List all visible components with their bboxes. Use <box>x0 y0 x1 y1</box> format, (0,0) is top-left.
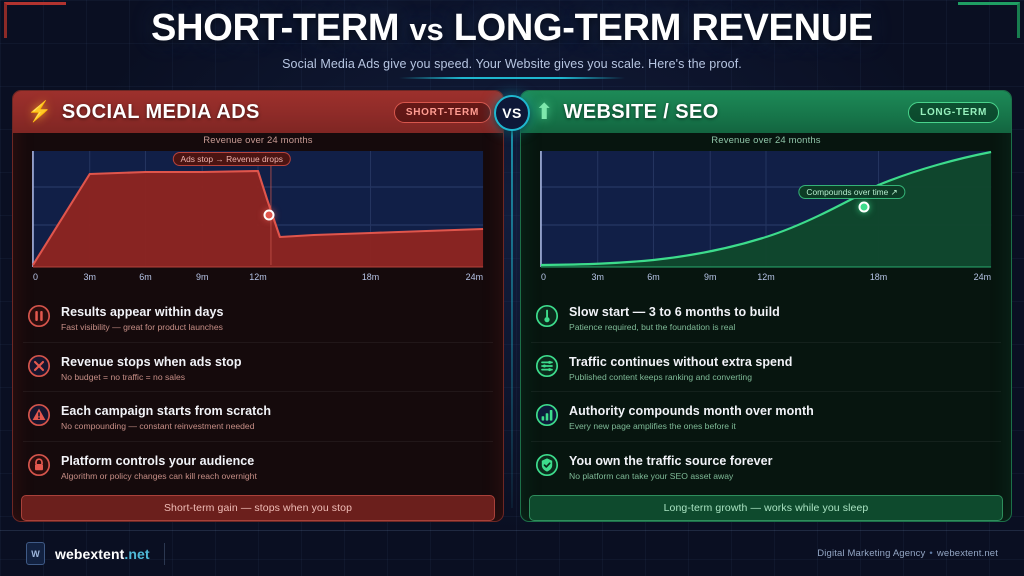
chart-svg-right: 0 3m 6m 9m 12m 18m 24m <box>527 147 1005 287</box>
panel-website-seo: ⬆ WEBSITE / SEO LONG-TERM Revenue over 2… <box>520 90 1012 522</box>
thermometer-circle-icon <box>535 304 559 328</box>
vs-badge: VS <box>494 95 530 131</box>
list-item[interactable]: Platform controls your audience Algorith… <box>23 441 493 491</box>
svg-text:3m: 3m <box>591 272 603 282</box>
status-badge-short-term: SHORT-TERM <box>394 102 491 123</box>
svg-text:9m: 9m <box>704 272 716 282</box>
bar-chart-circle-icon <box>535 403 559 427</box>
page-subtitle: Social Media Ads give you speed. Your We… <box>0 57 1024 71</box>
list-item-subtitle: No compounding — constant reinvestment n… <box>61 421 271 432</box>
chart-plot-left: 0 3m 6m 9m 12m 18m 24m Ads stop → Revenu… <box>19 147 497 287</box>
page-title: SHORT-TERM vs LONG-TERM REVENUE <box>0 6 1024 51</box>
footer-bullet: • <box>929 548 932 559</box>
chart-container-right: Revenue over 24 months <box>521 133 1011 287</box>
list-item-subtitle: Every new page amplifies the ones before… <box>569 421 814 432</box>
list-item-text: Revenue stops when ads stop No budget = … <box>61 352 242 383</box>
list-item-title: Authority compounds month over month <box>569 404 814 418</box>
x-circle-icon <box>27 354 51 378</box>
list-item-subtitle: Published content keeps ranking and conv… <box>569 372 792 383</box>
list-item-title: Results appear within days <box>61 305 223 319</box>
svg-text:24m: 24m <box>974 272 991 282</box>
up-arrow-icon: ⬆ <box>535 101 553 123</box>
list-item-text: You own the traffic source forever No pl… <box>569 451 773 482</box>
panel-title-left: SOCIAL MEDIA ADS <box>62 101 260 124</box>
list-item-subtitle: Patience required, but the foundation is… <box>569 322 780 333</box>
list-item-text: Authority compounds month over month Eve… <box>569 401 814 432</box>
list-item-title: Traffic continues without extra spend <box>569 355 792 369</box>
brand-name: webextent.net <box>55 546 150 562</box>
panel-footer-left: Short-term gain — stops when you stop <box>21 495 495 521</box>
list-item[interactable]: Traffic continues without extra spend Pu… <box>531 342 1001 392</box>
svg-text:12m: 12m <box>757 272 774 282</box>
svg-text:18m: 18m <box>362 272 379 282</box>
layers-circle-icon <box>535 354 559 378</box>
panel-header-left: ⚡ SOCIAL MEDIA ADS SHORT-TERM <box>13 91 503 133</box>
brand-block[interactable]: W webextent.net <box>26 542 150 565</box>
list-item-title: Revenue stops when ads stop <box>61 355 242 369</box>
chart-marker-left <box>264 209 275 220</box>
chart-marker-right <box>859 201 870 212</box>
svg-text:6m: 6m <box>647 272 659 282</box>
list-item-title: Each campaign starts from scratch <box>61 404 271 418</box>
svg-text:0: 0 <box>541 272 546 282</box>
page-header: SHORT-TERM vs LONG-TERM REVENUE Social M… <box>0 6 1024 79</box>
brand-name-text: webextent <box>55 546 124 562</box>
panel-social-media-ads: ⚡ SOCIAL MEDIA ADS SHORT-TERM Revenue ov… <box>12 90 504 522</box>
chart-caption-right: Revenue over 24 months <box>527 135 1005 146</box>
chart-plot-right: 0 3m 6m 9m 12m 18m 24m Compounds over ti… <box>527 147 1005 287</box>
footer-tagline: Digital Marketing Agency•webextent.net <box>817 548 998 559</box>
list-item-subtitle: No budget = no traffic = no sales <box>61 372 242 383</box>
footer-separator-rule <box>164 543 165 565</box>
infographic-canvas: SHORT-TERM vs LONG-TERM REVENUE Social M… <box>0 0 1024 576</box>
chart-caption-left: Revenue over 24 months <box>19 135 497 146</box>
list-item-title: Platform controls your audience <box>61 454 254 468</box>
chart-annotation-left-text: Ads stop → Revenue drops <box>180 154 282 164</box>
footer-site: webextent.net <box>937 548 998 559</box>
feature-list-left: Results appear within days Fast visibili… <box>13 289 503 491</box>
footer-tagline-text: Digital Marketing Agency <box>817 548 925 559</box>
list-item-text: Slow start — 3 to 6 months to build Pati… <box>569 302 780 333</box>
shield-check-circle-icon <box>535 453 559 477</box>
brand-tld: .net <box>124 546 149 562</box>
list-item[interactable]: Slow start — 3 to 6 months to build Pati… <box>531 293 1001 342</box>
svg-text:3m: 3m <box>83 272 95 282</box>
brand-logo-icon: W <box>26 542 45 565</box>
status-badge-long-term: LONG-TERM <box>908 102 999 123</box>
list-item-text: Each campaign starts from scratch No com… <box>61 401 271 432</box>
list-item-subtitle: Fast visibility — great for product laun… <box>61 322 223 333</box>
list-item-text: Platform controls your audience Algorith… <box>61 451 257 482</box>
list-item-subtitle: Algorithm or policy changes can kill rea… <box>61 471 257 482</box>
svg-text:18m: 18m <box>870 272 887 282</box>
svg-text:0: 0 <box>33 272 38 282</box>
chart-svg-left: 0 3m 6m 9m 12m 18m 24m <box>19 147 497 287</box>
panel-footer-right: Long-term growth — works while you sleep <box>529 495 1003 521</box>
list-item[interactable]: Revenue stops when ads stop No budget = … <box>23 342 493 392</box>
lock-circle-icon <box>27 453 51 477</box>
chart-annotation-left: Ads stop → Revenue drops <box>172 152 290 166</box>
list-item[interactable]: Each campaign starts from scratch No com… <box>23 391 493 441</box>
vs-divider-line <box>511 126 513 508</box>
chart-container-left: Revenue over 24 months <box>13 133 503 287</box>
page-footer: W webextent.net Digital Marketing Agency… <box>0 531 1024 576</box>
list-item-text: Results appear within days Fast visibili… <box>61 302 223 333</box>
warning-triangle-circle-icon <box>27 403 51 427</box>
svg-text:9m: 9m <box>196 272 208 282</box>
panel-header-right: ⬆ WEBSITE / SEO LONG-TERM <box>521 91 1011 133</box>
list-item-text: Traffic continues without extra spend Pu… <box>569 352 792 383</box>
list-item[interactable]: Authority compounds month over month Eve… <box>531 391 1001 441</box>
svg-text:12m: 12m <box>249 272 266 282</box>
list-item[interactable]: You own the traffic source forever No pl… <box>531 441 1001 491</box>
list-item-title: You own the traffic source forever <box>569 454 773 468</box>
list-item-title: Slow start — 3 to 6 months to build <box>569 305 780 319</box>
chart-annotation-right: Compounds over time ↗ <box>798 185 905 199</box>
svg-text:24m: 24m <box>466 272 483 282</box>
panel-title-right: WEBSITE / SEO <box>563 101 718 124</box>
page-title-part2: LONG-TERM REVENUE <box>454 7 873 49</box>
page-title-part1: SHORT-TERM <box>151 7 399 49</box>
svg-text:6m: 6m <box>139 272 151 282</box>
lightning-bolt-icon: ⚡ <box>27 102 52 122</box>
chart-annotation-right-text: Compounds over time ↗ <box>806 187 897 197</box>
list-item-subtitle: No platform can take your SEO asset away <box>569 471 773 482</box>
feature-list-right: Slow start — 3 to 6 months to build Pati… <box>521 289 1011 491</box>
pause-circle-icon <box>27 304 51 328</box>
page-title-vs: vs <box>410 12 444 47</box>
title-underline <box>399 77 625 79</box>
list-item[interactable]: Results appear within days Fast visibili… <box>23 293 493 342</box>
